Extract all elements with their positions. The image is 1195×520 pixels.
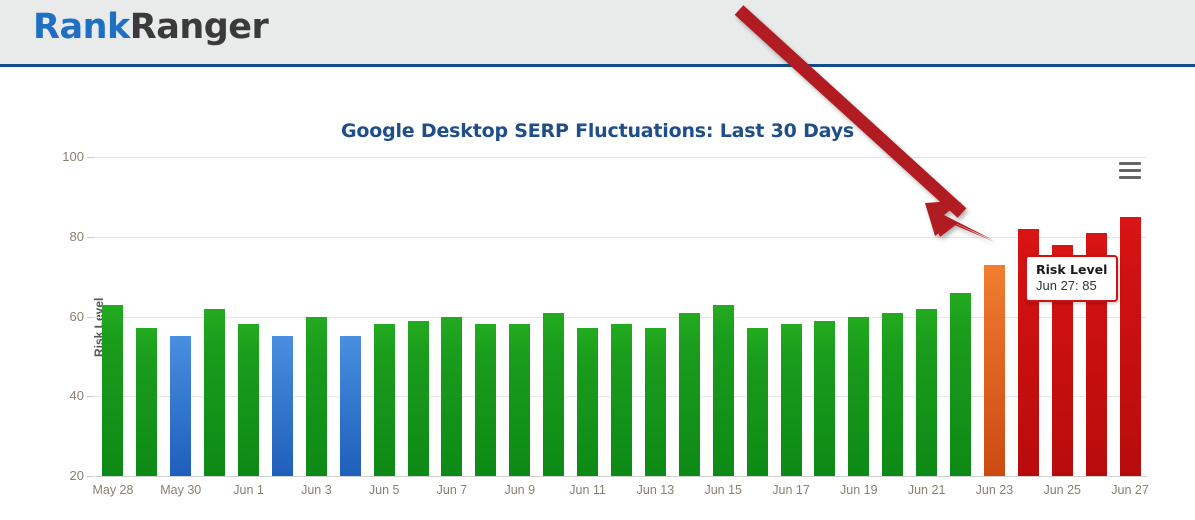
x-axis-tick-label: May 30 — [146, 483, 216, 497]
y-axis-tick-mark — [87, 157, 95, 158]
x-axis-tick-label: Jun 23 — [959, 483, 1029, 497]
x-axis-tick-label: Jun 15 — [688, 483, 758, 497]
bar-jun-15[interactable] — [713, 305, 734, 476]
bar-jun-17[interactable] — [781, 324, 802, 476]
bar-jun-20[interactable] — [882, 313, 903, 476]
logo-text-rank: Rank — [33, 7, 130, 47]
y-axis-tick-label: 20 — [44, 468, 84, 483]
gridline — [96, 237, 1147, 238]
x-axis-tick-label: May 28 — [78, 483, 148, 497]
bar-jun-11[interactable] — [577, 328, 598, 476]
bar-jun-5[interactable] — [374, 324, 395, 476]
x-axis-tick-label: Jun 19 — [824, 483, 894, 497]
bar-jun-14[interactable] — [679, 313, 700, 476]
bar-jun-9[interactable] — [509, 324, 530, 476]
chart-title: Google Desktop SERP Fluctuations: Last 3… — [0, 120, 1195, 142]
y-axis-tick-label: 80 — [44, 229, 84, 244]
bar-jun-16[interactable] — [747, 328, 768, 476]
logo-text-ranger: Ranger — [130, 7, 269, 47]
tooltip-value: Jun 27: 85 — [1036, 277, 1107, 294]
bar-jun-21[interactable] — [916, 309, 937, 476]
y-axis-tick-label: 100 — [44, 149, 84, 164]
y-axis-tick-mark — [87, 237, 95, 238]
x-axis-tick-label: Jun 27 — [1095, 483, 1165, 497]
bar-jun-10[interactable] — [543, 313, 564, 476]
bar-jun-13[interactable] — [645, 328, 666, 476]
bar-jun-4[interactable] — [340, 336, 361, 476]
bar-jun-7[interactable] — [441, 317, 462, 477]
y-axis-tick-mark — [87, 476, 95, 477]
chart-panel: Google Desktop SERP Fluctuations: Last 3… — [0, 70, 1195, 520]
x-axis-tick-label: Jun 21 — [892, 483, 962, 497]
bar-jun-6[interactable] — [408, 321, 429, 477]
x-axis-tick-label: Jun 11 — [553, 483, 623, 497]
app-header: RankRanger — [0, 0, 1195, 67]
bar-may-30[interactable] — [170, 336, 191, 476]
tooltip-title: Risk Level — [1036, 262, 1107, 277]
gridline — [96, 476, 1147, 477]
x-axis-tick-label: Jun 17 — [756, 483, 826, 497]
y-axis-tick-label: 60 — [44, 309, 84, 324]
bar-jun-2[interactable] — [272, 336, 293, 476]
x-axis-tick-label: Jun 13 — [620, 483, 690, 497]
bar-may-28[interactable] — [102, 305, 123, 476]
bar-may-31[interactable] — [204, 309, 225, 476]
bar-may-29[interactable] — [136, 328, 157, 476]
bar-jun-8[interactable] — [475, 324, 496, 476]
x-axis-tick-label: Jun 9 — [485, 483, 555, 497]
bar-jun-27[interactable] — [1120, 217, 1141, 476]
y-axis-tick-label: 40 — [44, 388, 84, 403]
bar-jun-12[interactable] — [611, 324, 632, 476]
x-axis-tick-label: Jun 7 — [417, 483, 487, 497]
gridline — [96, 157, 1147, 158]
x-axis-tick-label: Jun 25 — [1027, 483, 1097, 497]
bar-jun-18[interactable] — [814, 321, 835, 477]
bar-jun-22[interactable] — [950, 293, 971, 476]
chart-tooltip: Risk Level Jun 27: 85 — [1025, 255, 1118, 302]
bar-jun-1[interactable] — [238, 324, 259, 476]
x-axis-tick-label: Jun 5 — [349, 483, 419, 497]
bar-jun-23[interactable] — [984, 265, 1005, 476]
plot-area: Risk Level 20406080100 May 28May 30Jun 1… — [96, 157, 1147, 476]
bar-jun-19[interactable] — [848, 317, 869, 477]
y-axis-tick-mark — [87, 317, 95, 318]
x-axis-tick-label: Jun 1 — [214, 483, 284, 497]
x-axis-tick-label: Jun 3 — [281, 483, 351, 497]
rankranger-logo[interactable]: RankRanger — [33, 7, 268, 47]
bar-jun-3[interactable] — [306, 317, 327, 477]
y-axis-tick-mark — [87, 396, 95, 397]
